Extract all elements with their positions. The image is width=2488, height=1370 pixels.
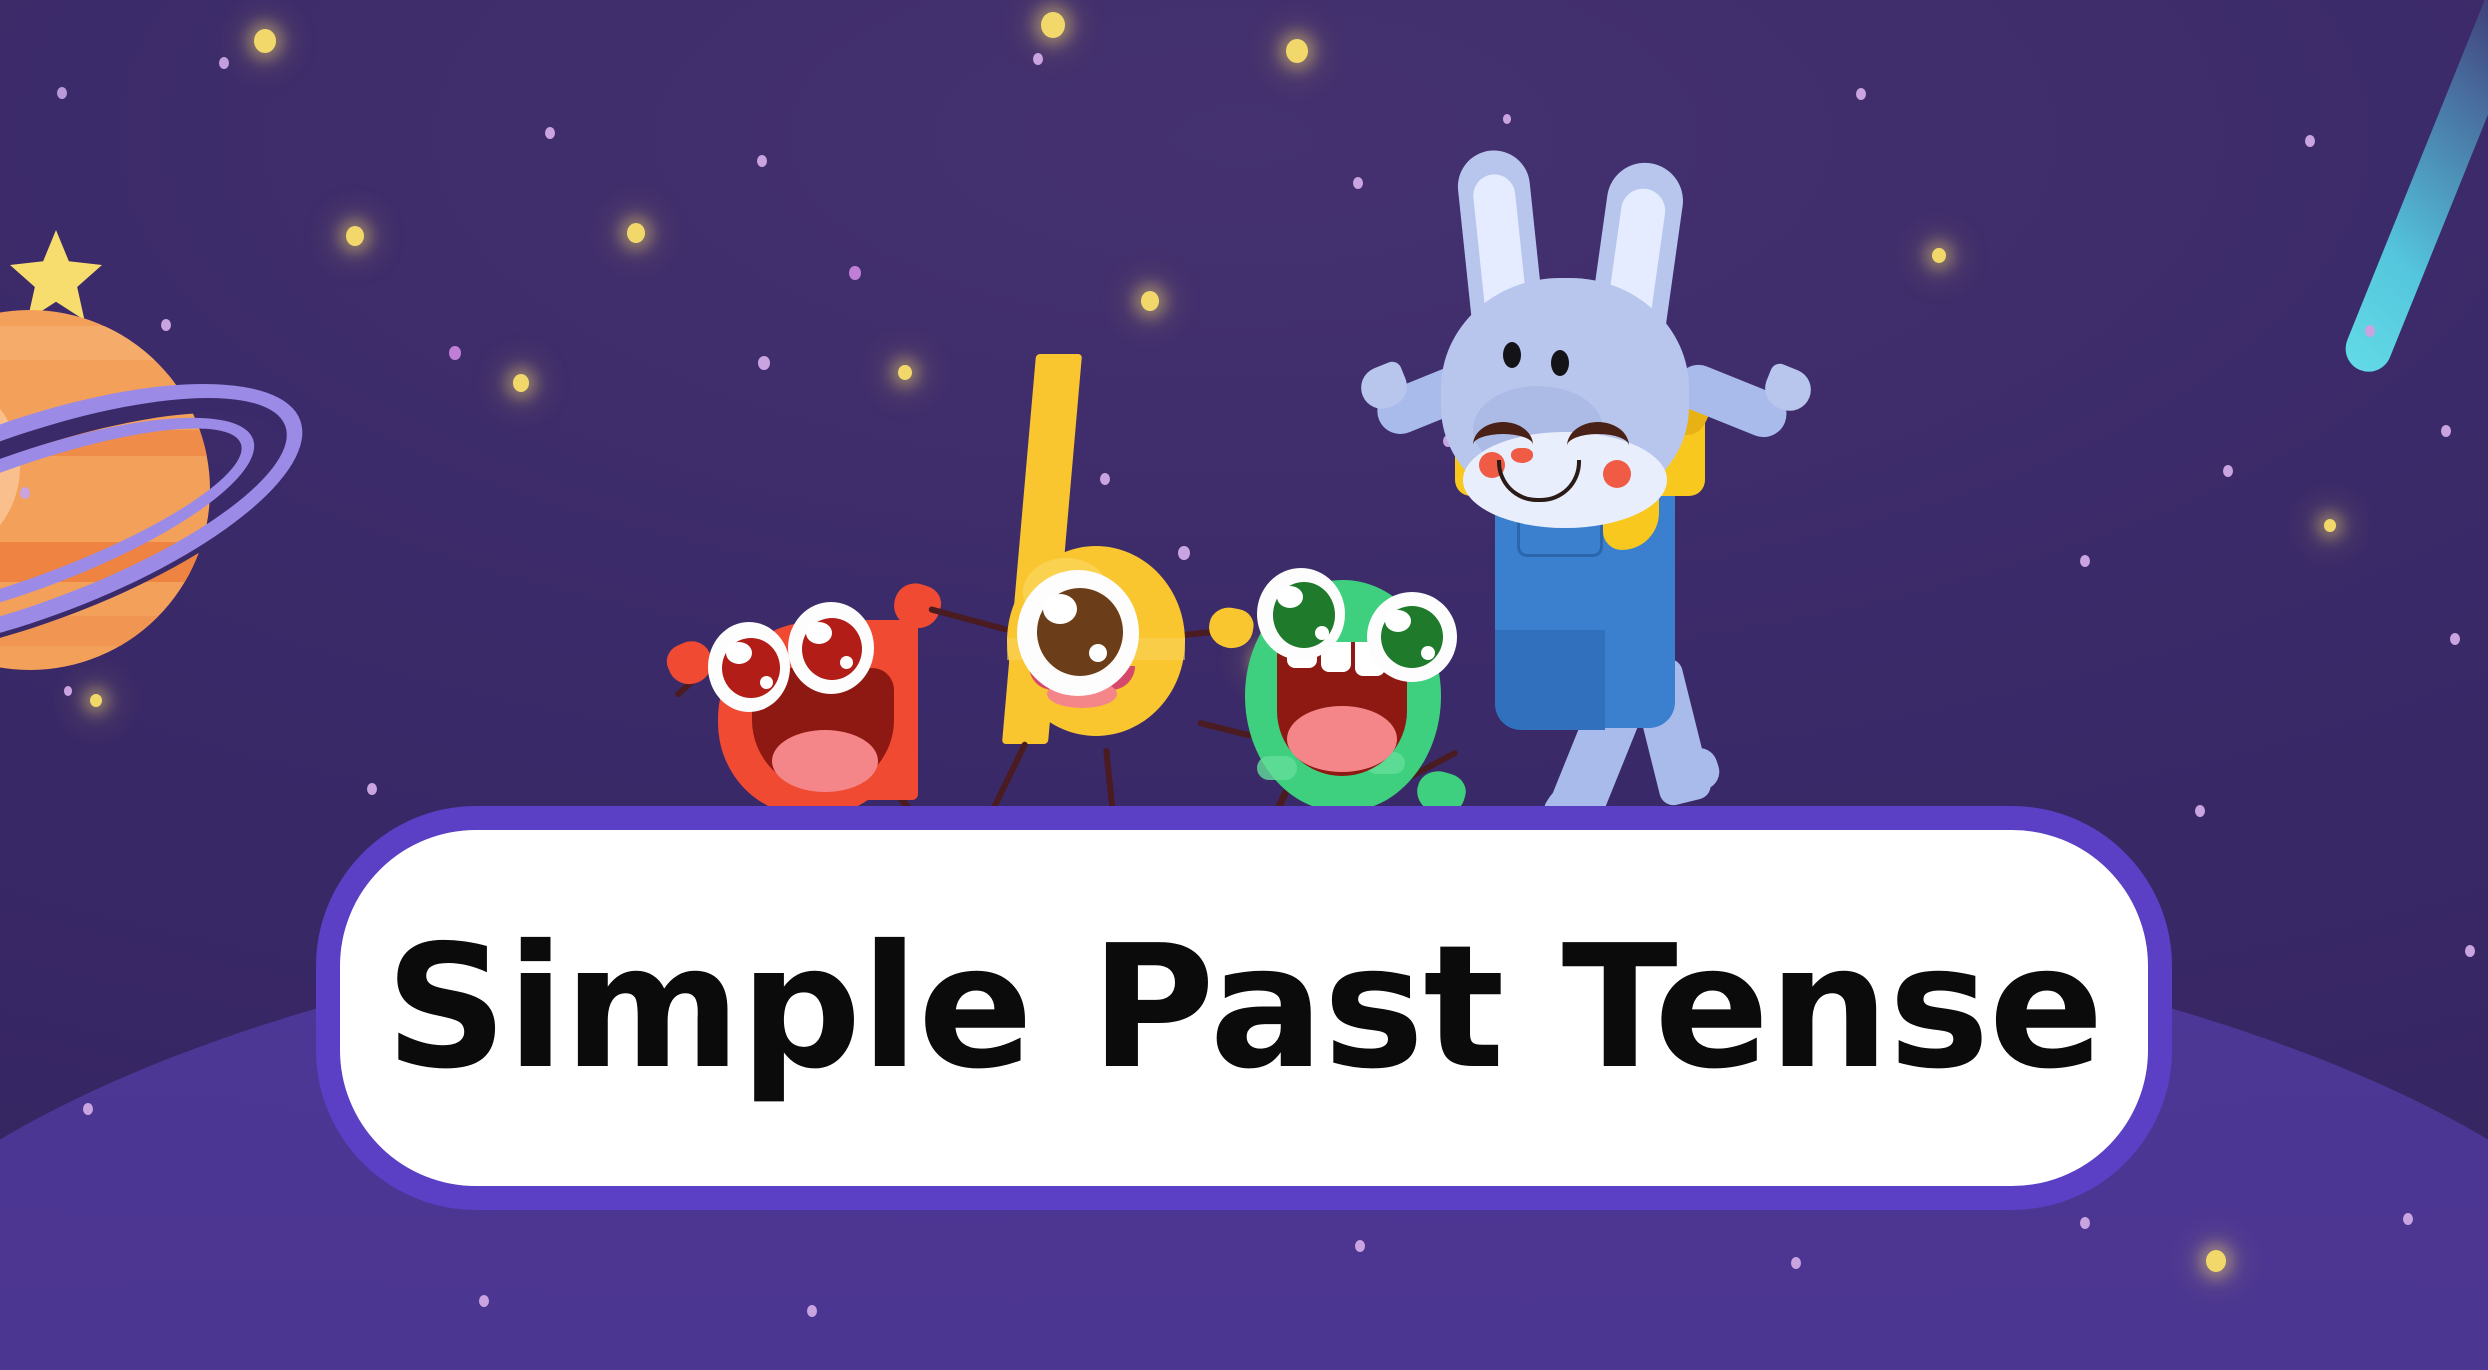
green-monster-eye-shine bbox=[1315, 626, 1329, 640]
dust-dot-icon bbox=[545, 127, 555, 139]
red-monster-tongue bbox=[772, 730, 878, 792]
title-banner: Simple Past Tense bbox=[316, 806, 2172, 1210]
dust-dot-icon bbox=[219, 57, 229, 69]
page-title: Simple Past Tense bbox=[385, 923, 2103, 1093]
ringed-planet bbox=[0, 310, 330, 750]
dust-dot-icon bbox=[83, 1103, 93, 1115]
glow-star-icon bbox=[627, 223, 645, 243]
bunny-eye-dot bbox=[1551, 350, 1569, 376]
glow-star-icon bbox=[1286, 39, 1308, 63]
glow-star-icon bbox=[1141, 291, 1159, 311]
dust-dot-icon bbox=[64, 686, 72, 696]
green-monster-eye-shine bbox=[1277, 586, 1303, 608]
dust-dot-icon bbox=[2365, 325, 2375, 337]
bunny-overalls-shade bbox=[1495, 630, 1605, 730]
dust-dot-icon bbox=[2080, 1217, 2090, 1229]
bunny-cheek bbox=[1603, 460, 1631, 488]
dust-dot-icon bbox=[2080, 555, 2090, 567]
dust-dot-icon bbox=[1033, 53, 1043, 65]
dust-dot-icon bbox=[807, 1305, 817, 1317]
dust-dot-icon bbox=[161, 319, 171, 331]
dust-dot-icon bbox=[2195, 805, 2205, 817]
green-monster-body-highlight bbox=[1257, 756, 1297, 780]
glow-star-icon bbox=[513, 374, 529, 392]
dust-dot-icon bbox=[479, 1295, 489, 1307]
red-monster-eye-shine bbox=[806, 622, 832, 644]
dust-dot-icon bbox=[57, 87, 67, 99]
planet-band bbox=[0, 326, 210, 360]
yellow-monster-eye-shine bbox=[1043, 594, 1077, 624]
dust-dot-icon bbox=[2441, 425, 2451, 437]
dust-dot-icon bbox=[2403, 1213, 2413, 1225]
red-monster-eye-shine bbox=[726, 642, 752, 664]
red-monster-eye-shine bbox=[840, 656, 853, 669]
yellow-monster-eye-shine bbox=[1089, 644, 1107, 662]
dust-dot-icon bbox=[20, 487, 30, 499]
glow-star-icon bbox=[2206, 1250, 2226, 1272]
dust-dot-icon bbox=[367, 783, 377, 795]
dust-dot-icon bbox=[2450, 633, 2460, 645]
glow-star-icon bbox=[254, 29, 276, 53]
dust-dot-icon bbox=[1791, 1257, 1801, 1269]
red-monster-eye-shine bbox=[760, 676, 773, 689]
dust-dot-icon bbox=[757, 155, 767, 167]
dust-dot-icon bbox=[2465, 945, 2475, 957]
glow-star-icon bbox=[346, 226, 364, 246]
scene-root: Simple Past Tense bbox=[0, 0, 2488, 1370]
dust-dot-icon bbox=[2305, 135, 2315, 147]
dust-dot-icon bbox=[2223, 465, 2233, 477]
dust-dot-icon bbox=[1503, 114, 1511, 124]
dust-dot-icon bbox=[1355, 1240, 1365, 1252]
dust-dot-icon bbox=[1856, 88, 1866, 100]
bunny-eye-dot bbox=[1503, 342, 1521, 368]
